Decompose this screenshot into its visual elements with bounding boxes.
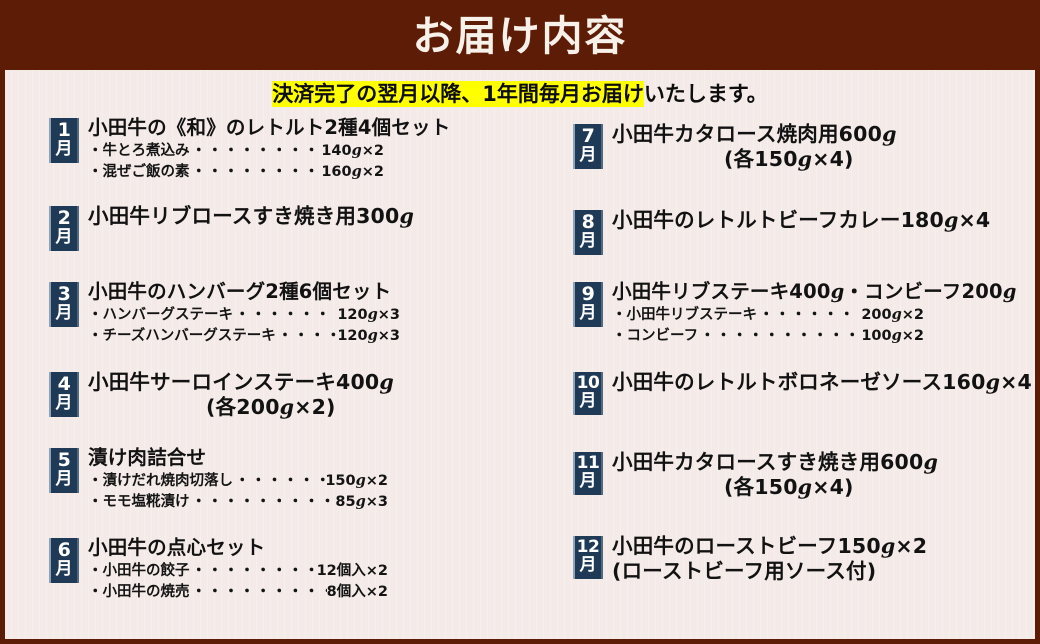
month-item: ・牛とろ煮込み・・・・・・・・・・・・・・・・・・140g×2 <box>88 141 384 162</box>
item-name: ・ハンバーグステーキ <box>88 305 233 326</box>
month-title: 小田牛のハンバーグ2種6個セット <box>88 280 400 303</box>
item-dot-leader: ・・・・・・・・・・・・ <box>233 471 325 492</box>
delivery-notice-highlight: 決済完了の翌月以降、1年間毎月お届け <box>272 81 644 107</box>
month-suffix: 月 <box>51 229 77 247</box>
month-title: 小田牛カタロースすき焼き用600g <box>612 450 938 474</box>
month-entry-2: 2月小田牛リブロースすき焼き用300g <box>5 204 414 251</box>
month-item-list: ・漬けだれ焼肉切落し・・・・・・・・・・・・150g×2・モモ塩糀漬け・・・・・… <box>88 471 388 512</box>
month-item: ・コンビーフ・・・・・・・・・・・・・・・・・・・100g×2 <box>612 326 924 347</box>
month-number: 8 <box>575 213 601 233</box>
month-entry-6: 6月小田牛の点心セット・小田牛の餃子・・・・・・・・・・・・・・・12個入×2・… <box>5 536 388 602</box>
subtitle-row: 決済完了の翌月以降、1年間毎月お届けいたします。 <box>5 82 1035 107</box>
page-title: お届け内容 <box>413 16 628 57</box>
item-dot-leader: ・・・・・・・・・・・・ <box>757 305 861 326</box>
month-title: 小田牛リブロースすき焼き用300g <box>88 204 414 228</box>
item-name: ・混ぜご飯の素 <box>88 162 190 183</box>
month-entry-9: 9月小田牛リブステーキ400g・コンビーフ200g・小田牛リブステーキ・・・・・… <box>520 280 1017 346</box>
item-dot-leader: ・・・・・・・・・・・・・・・ <box>190 561 317 582</box>
month-item: ・チーズハンバーグステーキ・・・・・・・120g×3 <box>88 326 400 347</box>
month-title: 小田牛のローストビーフ150g×2 <box>612 534 927 558</box>
item-name: ・小田牛リブステーキ <box>612 305 757 326</box>
item-name: ・牛とろ煮込み <box>88 141 190 162</box>
month-title: 小田牛のレトルトビーフカレー180g×4 <box>612 208 990 232</box>
month-entry-3: 3月小田牛のハンバーグ2種6個セット・ハンバーグステーキ・・・・・・・・・・・1… <box>5 280 400 346</box>
month-title: 小田牛の点心セット <box>88 536 388 559</box>
month-subline: (各200g×2) <box>88 394 394 421</box>
item-quantity: 160g×2 <box>321 162 384 183</box>
month-title: 小田牛サーロインステーキ400g <box>88 370 394 394</box>
month-suffix: 月 <box>575 557 601 575</box>
delivery-notice: 決済完了の翌月以降、1年間毎月お届けいたします。 <box>272 82 768 107</box>
delivery-contents-poster: お届け内容 決済完了の翌月以降、1年間毎月お届けいたします。 1月小田牛の《和》… <box>0 0 1040 644</box>
month-suffix: 月 <box>575 147 601 165</box>
item-name: ・小田牛の焼売 <box>88 582 190 603</box>
header-band: お届け内容 <box>0 0 1040 70</box>
month-body-3: 小田牛のハンバーグ2種6個セット・ハンバーグステーキ・・・・・・・・・・・120… <box>79 280 400 346</box>
month-number: 6 <box>51 541 77 561</box>
item-name: ・チーズハンバーグステーキ <box>88 326 276 347</box>
month-badge-3: 3月 <box>49 282 79 327</box>
month-subline: (各150g×4) <box>612 146 897 173</box>
item-dot-leader: ・・・・・・・・・・・・・・・・・ <box>190 162 322 183</box>
item-dot-leader: ・・・・・・・・・・・ <box>233 305 337 326</box>
month-badge-1: 1月 <box>49 118 79 163</box>
month-badge-2: 2月 <box>49 206 79 251</box>
month-entry-10: 10月小田牛のレトルトボロネーゼソース160g×4 <box>520 370 1032 415</box>
month-body-8: 小田牛のレトルトビーフカレー180g×4 <box>603 208 990 232</box>
month-item-list: ・小田牛リブステーキ・・・・・・・・・・・・200g×2・コンビーフ・・・・・・… <box>612 305 1017 346</box>
month-badge-11: 11月 <box>573 452 603 495</box>
month-title: 小田牛リブステーキ400g・コンビーフ200g <box>612 280 1017 303</box>
month-badge-9: 9月 <box>573 282 603 327</box>
month-item: ・混ぜご飯の素・・・・・・・・・・・・・・・・・160g×2 <box>88 162 384 183</box>
month-number: 7 <box>575 127 601 147</box>
item-quantity: 200g×2 <box>861 305 924 326</box>
item-quantity: 120g×3 <box>337 326 400 347</box>
item-dot-leader: ・・・・・・・・・・・・・・・・・・ <box>190 492 336 513</box>
month-suffix: 月 <box>51 395 77 413</box>
item-quantity: 100g×2 <box>861 326 924 347</box>
item-quantity: 8個入×2 <box>327 582 388 603</box>
month-body-11: 小田牛カタロースすき焼き用600g(各150g×4) <box>603 450 938 501</box>
month-badge-10: 10月 <box>573 372 603 415</box>
item-name: ・コンビーフ <box>612 326 698 347</box>
month-number: 4 <box>51 375 77 395</box>
month-body-9: 小田牛リブステーキ400g・コンビーフ200g・小田牛リブステーキ・・・・・・・… <box>603 280 1017 346</box>
months-column-left: 1月小田牛の《和》のレトルト2種4個セット・牛とろ煮込み・・・・・・・・・・・・… <box>5 116 520 636</box>
content-panel: 決済完了の翌月以降、1年間毎月お届けいたします。 1月小田牛の《和》のレトルト2… <box>5 70 1035 639</box>
month-item: ・小田牛の焼売・・・・・・・・・・・・・・・8個入×2 <box>88 582 388 603</box>
month-body-10: 小田牛のレトルトボロネーゼソース160g×4 <box>603 370 1032 394</box>
month-entry-5: 5月漬け肉詰合せ・漬けだれ焼肉切落し・・・・・・・・・・・・150g×2・モモ塩… <box>5 446 388 512</box>
month-subline: (ローストビーフ用ソース付) <box>612 558 927 585</box>
month-title: 漬け肉詰合せ <box>88 446 388 469</box>
month-item: ・小田牛の餃子・・・・・・・・・・・・・・・12個入×2 <box>88 561 388 582</box>
item-quantity: 150g×2 <box>325 471 388 492</box>
month-number: 1 <box>51 121 77 141</box>
month-subline: (各150g×4) <box>612 474 938 501</box>
item-name: ・小田牛の餃子 <box>88 561 190 582</box>
month-item-list: ・ハンバーグステーキ・・・・・・・・・・・120g×3・チーズハンバーグステーキ… <box>88 305 400 346</box>
month-body-5: 漬け肉詰合せ・漬けだれ焼肉切落し・・・・・・・・・・・・150g×2・モモ塩糀漬… <box>79 446 388 512</box>
month-suffix: 月 <box>575 473 601 491</box>
month-item: ・ハンバーグステーキ・・・・・・・・・・・120g×3 <box>88 305 400 326</box>
item-name: ・モモ塩糀漬け <box>88 492 190 513</box>
month-entry-11: 11月小田牛カタロースすき焼き用600g(各150g×4) <box>520 450 938 501</box>
month-title: 小田牛カタロース焼肉用600g <box>612 122 897 146</box>
item-quantity: 85g×3 <box>335 492 388 513</box>
item-dot-leader: ・・・・・・・ <box>276 326 338 347</box>
month-item: ・モモ塩糀漬け・・・・・・・・・・・・・・・・・・85g×3 <box>88 492 388 513</box>
months-grid: 1月小田牛の《和》のレトルト2種4個セット・牛とろ煮込み・・・・・・・・・・・・… <box>5 116 1035 636</box>
month-number: 2 <box>51 209 77 229</box>
delivery-notice-plain: いたします。 <box>644 82 768 106</box>
month-badge-12: 12月 <box>573 536 603 579</box>
month-number: 3 <box>51 285 77 305</box>
month-entry-7: 7月小田牛カタロース焼肉用600g(各150g×4) <box>520 122 897 173</box>
month-item-list: ・牛とろ煮込み・・・・・・・・・・・・・・・・・・140g×2・混ぜご飯の素・・… <box>88 141 450 182</box>
month-suffix: 月 <box>51 471 77 489</box>
month-suffix: 月 <box>575 233 601 251</box>
month-body-7: 小田牛カタロース焼肉用600g(各150g×4) <box>603 122 897 173</box>
item-dot-leader: ・・・・・・・・・・・・・・・・・・ <box>190 141 322 162</box>
item-dot-leader: ・・・・・・・・・・・・・・・ <box>190 582 327 603</box>
month-badge-7: 7月 <box>573 124 603 169</box>
month-number: 9 <box>575 285 601 305</box>
month-title: 小田牛の《和》のレトルト2種4個セット <box>88 116 450 139</box>
month-entry-1: 1月小田牛の《和》のレトルト2種4個セット・牛とろ煮込み・・・・・・・・・・・・… <box>5 116 450 182</box>
month-entry-12: 12月小田牛のローストビーフ150g×2(ローストビーフ用ソース付) <box>520 534 927 585</box>
month-suffix: 月 <box>51 141 77 159</box>
month-badge-4: 4月 <box>49 372 79 417</box>
month-suffix: 月 <box>51 305 77 323</box>
months-column-right: 7月小田牛カタロース焼肉用600g(各150g×4)8月小田牛のレトルトビーフカ… <box>520 116 1035 636</box>
item-quantity: 12個入×2 <box>317 561 388 582</box>
item-quantity: 120g×3 <box>337 305 400 326</box>
month-badge-6: 6月 <box>49 538 79 583</box>
month-entry-4: 4月小田牛サーロインステーキ400g(各200g×2) <box>5 370 394 421</box>
month-item: ・小田牛リブステーキ・・・・・・・・・・・・200g×2 <box>612 305 924 326</box>
item-quantity: 140g×2 <box>321 141 384 162</box>
month-body-4: 小田牛サーロインステーキ400g(各200g×2) <box>79 370 394 421</box>
month-badge-8: 8月 <box>573 210 603 255</box>
month-suffix: 月 <box>575 393 601 411</box>
month-item: ・漬けだれ焼肉切落し・・・・・・・・・・・・150g×2 <box>88 471 388 492</box>
month-badge-5: 5月 <box>49 448 79 493</box>
month-title: 小田牛のレトルトボロネーゼソース160g×4 <box>612 370 1032 394</box>
item-name: ・漬けだれ焼肉切落し <box>88 471 233 492</box>
month-suffix: 月 <box>575 305 601 323</box>
month-item-list: ・小田牛の餃子・・・・・・・・・・・・・・・12個入×2・小田牛の焼売・・・・・… <box>88 561 388 602</box>
item-dot-leader: ・・・・・・・・・・・・・・・・・・・ <box>698 326 861 347</box>
month-number: 5 <box>51 451 77 471</box>
month-body-2: 小田牛リブロースすき焼き用300g <box>79 204 414 228</box>
month-suffix: 月 <box>51 561 77 579</box>
month-body-1: 小田牛の《和》のレトルト2種4個セット・牛とろ煮込み・・・・・・・・・・・・・・… <box>79 116 450 182</box>
month-body-6: 小田牛の点心セット・小田牛の餃子・・・・・・・・・・・・・・・12個入×2・小田… <box>79 536 388 602</box>
month-entry-8: 8月小田牛のレトルトビーフカレー180g×4 <box>520 208 990 255</box>
month-body-12: 小田牛のローストビーフ150g×2(ローストビーフ用ソース付) <box>603 534 927 585</box>
